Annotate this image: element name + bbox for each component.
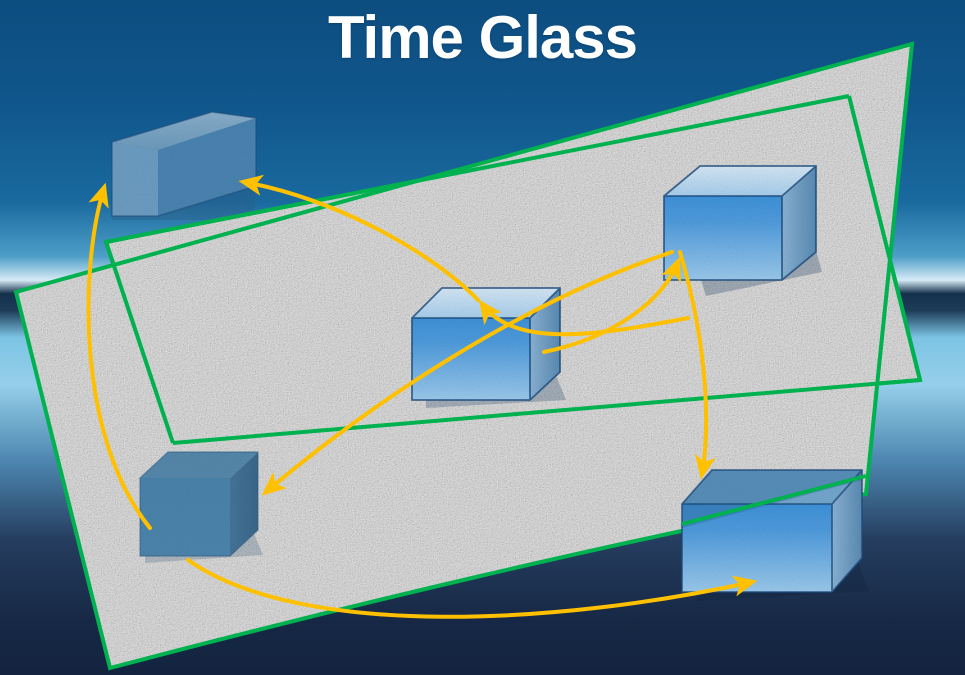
cube-bottom-right — [682, 470, 869, 601]
cube-top-left-front-upper — [112, 142, 158, 216]
slide-artwork — [0, 0, 965, 675]
cube-top-left — [112, 112, 256, 220]
cube-bottom-left — [140, 452, 263, 563]
cube-top-right-front-face — [664, 196, 782, 280]
cube-bottom-left-front-face — [140, 478, 230, 556]
cube-center-front-face — [412, 318, 530, 400]
slide-canvas: Time Glass — [0, 0, 965, 675]
